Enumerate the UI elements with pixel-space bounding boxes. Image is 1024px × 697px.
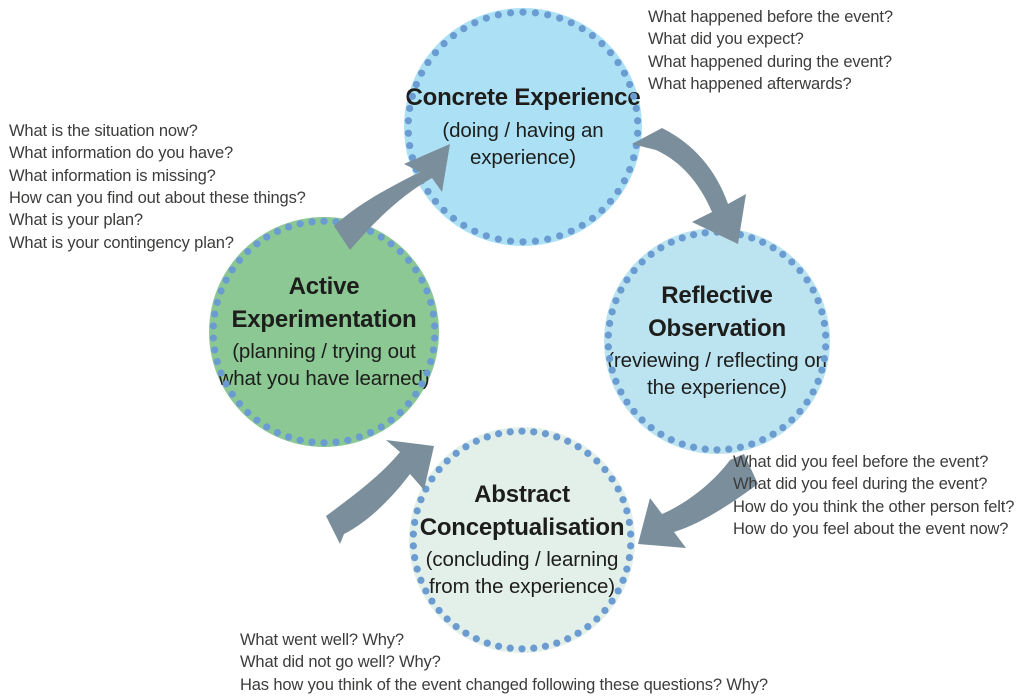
questions-active-experimentation: What is the situation now? What informat… (9, 120, 306, 254)
questions-reflective-observation: What did you feel before the event? What… (733, 451, 1014, 540)
diagram-canvas: Concrete Experience (doing / having an e… (0, 0, 1024, 697)
stage-subtitle-active-experimentation: (planning / trying out what you have lea… (209, 338, 439, 393)
questions-concrete-experience: What happened before the event? What did… (648, 6, 893, 95)
stage-subtitle-concrete-experience: (doing / having an experience) (404, 117, 642, 172)
stage-subtitle-abstract-conceptualisation: (concluding / learning from the experien… (409, 546, 635, 601)
questions-abstract-conceptualisation: What went well? Why? What did not go wel… (240, 629, 768, 696)
stage-title-concrete-experience: Concrete Experience (406, 82, 641, 114)
stage-circle-abstract-conceptualisation[interactable]: Abstract Conceptualisation (concluding /… (409, 427, 635, 653)
stage-circle-reflective-observation[interactable]: Reflective Observation (reviewing / refl… (604, 228, 830, 454)
stage-title-abstract-conceptualisation: Abstract Conceptualisation (409, 479, 635, 544)
stage-subtitle-reflective-observation: (reviewing / reflecting on the experienc… (604, 347, 830, 402)
stage-title-reflective-observation: Reflective Observation (604, 280, 830, 345)
stage-title-active-experimentation: Active Experimentation (209, 271, 439, 336)
stage-circle-concrete-experience[interactable]: Concrete Experience (doing / having an e… (404, 8, 642, 246)
